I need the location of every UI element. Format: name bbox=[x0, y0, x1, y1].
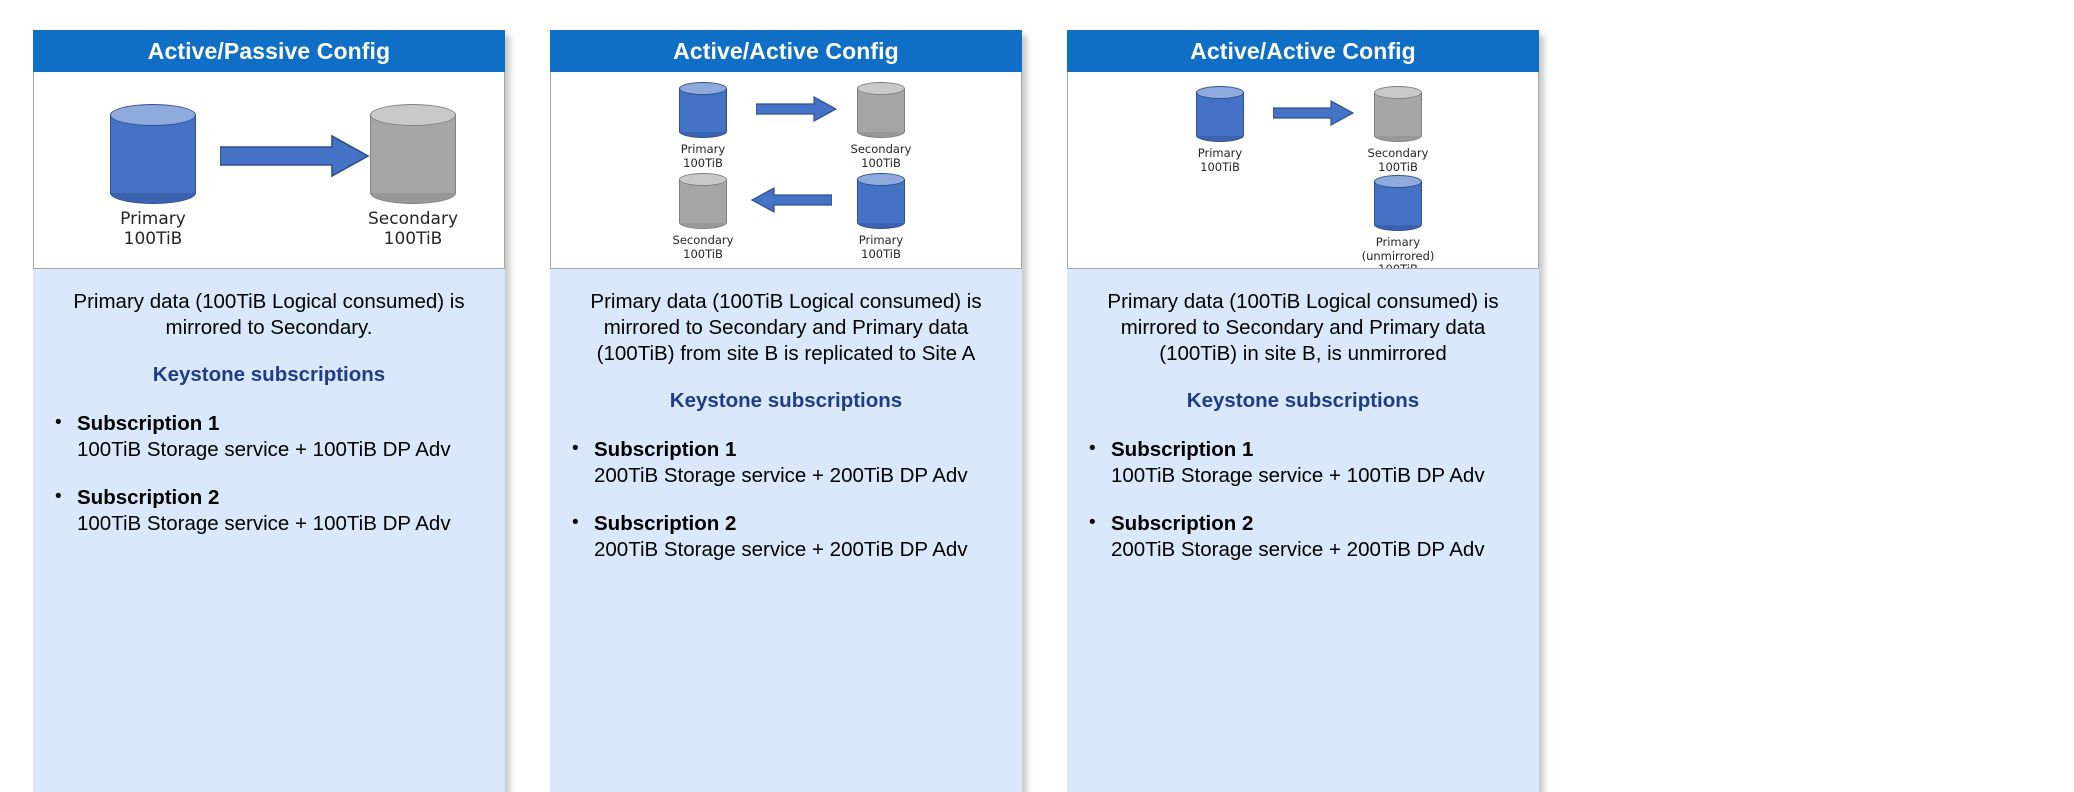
panel-header-active-active-bidirectional: Active/Active Config bbox=[550, 30, 1022, 72]
subscription-name: Subscription 2 bbox=[1111, 511, 1525, 536]
subscription-name: Subscription 1 bbox=[1111, 437, 1525, 462]
subscription-name: Subscription 1 bbox=[594, 437, 1008, 462]
list-item: • Subscription 1 200TiB Storage service … bbox=[564, 437, 1008, 489]
panel-header-active-passive: Active/Passive Config bbox=[33, 30, 505, 72]
subscriptions-list: • Subscription 1 100TiB Storage service … bbox=[1081, 437, 1525, 563]
cylinder-capacity: 100TiB bbox=[861, 247, 901, 261]
subscription-detail: 200TiB Storage service + 200TiB DP Adv bbox=[594, 463, 1008, 489]
bullet-icon: • bbox=[1089, 437, 1111, 461]
arrow-left-icon bbox=[750, 187, 832, 213]
cylinder-role: Secondary bbox=[673, 233, 734, 247]
cylinder-label-primary-site-a: Primary100TiB bbox=[1172, 147, 1268, 174]
arrow-right-icon bbox=[756, 96, 838, 122]
cylinder-node-secondary-site-b: Secondary100TiB bbox=[1350, 86, 1446, 174]
summary-text: Primary data (100TiB Logical consumed) i… bbox=[1081, 289, 1525, 367]
panel-active-active-bidirectional: Active/Active Config Primary100TiB bbox=[550, 30, 1022, 792]
cylinder-role: Primary bbox=[1198, 146, 1242, 160]
cylinder-role: Primary bbox=[681, 142, 725, 156]
list-item: • Subscription 2 200TiB Storage service … bbox=[564, 511, 1008, 563]
cylinder-node-primary-unmirrored-site-b: Primary (unmirrored)100TiB bbox=[1350, 175, 1446, 269]
summary-text: Primary data (100TiB Logical consumed) i… bbox=[47, 289, 491, 341]
cylinder-label-primary-site-b: Primary100TiB bbox=[833, 234, 929, 261]
database-cylinder-icon bbox=[1196, 86, 1244, 142]
database-cylinder-icon bbox=[1374, 175, 1422, 231]
subscription-detail: 200TiB Storage service + 200TiB DP Adv bbox=[1111, 537, 1525, 563]
cylinder-capacity: 100TiB bbox=[683, 247, 723, 261]
cylinder-role: Secondary bbox=[368, 209, 458, 229]
cylinder-label-primary-unmirrored: Primary (unmirrored)100TiB bbox=[1350, 236, 1446, 269]
diagram-active-passive: Primary100TiB Secondary100TiB bbox=[33, 72, 505, 269]
subscriptions-list: • Subscription 1 100TiB Storage service … bbox=[47, 411, 491, 537]
list-item: • Subscription 1 100TiB Storage service … bbox=[1081, 437, 1525, 489]
bullet-icon: • bbox=[55, 485, 77, 509]
summary-text: Primary data (100TiB Logical consumed) i… bbox=[564, 289, 1008, 367]
subscriptions-title: Keystone subscriptions bbox=[1081, 389, 1525, 413]
arrow-right-icon bbox=[220, 134, 370, 178]
cylinder-label-primary-site-a: Primary100TiB bbox=[655, 143, 751, 170]
cylinder-node-primary-site-b: Primary100TiB bbox=[833, 173, 929, 261]
cylinder-role: Primary bbox=[859, 233, 903, 247]
database-cylinder-icon bbox=[110, 104, 196, 204]
cylinder-capacity: 100TiB bbox=[1378, 160, 1418, 174]
subscription-name: Subscription 1 bbox=[77, 411, 491, 436]
bullet-icon: • bbox=[55, 411, 77, 435]
list-item: • Subscription 1 100TiB Storage service … bbox=[47, 411, 491, 463]
subscription-name: Subscription 2 bbox=[594, 511, 1008, 536]
bullet-icon: • bbox=[572, 511, 594, 535]
cylinder-node-secondary: Secondary100TiB bbox=[352, 104, 474, 249]
body-active-passive: Primary data (100TiB Logical consumed) i… bbox=[33, 269, 505, 792]
list-item: • Subscription 2 200TiB Storage service … bbox=[1081, 511, 1525, 563]
body-active-active-unmirrored: Primary data (100TiB Logical consumed) i… bbox=[1067, 269, 1539, 792]
cylinder-role: Secondary bbox=[851, 142, 912, 156]
subscriptions-list: • Subscription 1 200TiB Storage service … bbox=[564, 437, 1008, 563]
panel-active-active-unmirrored: Active/Active Config Primary100TiB bbox=[1067, 30, 1539, 792]
database-cylinder-icon bbox=[857, 173, 905, 229]
cylinder-label-secondary-site-b: Secondary100TiB bbox=[1350, 147, 1446, 174]
cylinder-capacity: 100TiB bbox=[1200, 160, 1240, 174]
database-cylinder-icon bbox=[679, 173, 727, 229]
cylinder-label-secondary-site-b: Secondary100TiB bbox=[833, 143, 929, 170]
cylinder-node-secondary-site-b: Secondary100TiB bbox=[833, 82, 929, 170]
diagram-active-active-bidirectional: Primary100TiB Secondary100TiB bbox=[550, 72, 1022, 269]
subscription-name: Subscription 2 bbox=[77, 485, 491, 510]
cylinder-role: Secondary bbox=[1368, 146, 1429, 160]
panel-active-passive: Active/Passive Config Primary100TiB bbox=[33, 30, 505, 792]
database-cylinder-icon bbox=[679, 82, 727, 138]
database-cylinder-icon bbox=[1374, 86, 1422, 142]
list-item: • Subscription 2 100TiB Storage service … bbox=[47, 485, 491, 537]
bullet-icon: • bbox=[1089, 511, 1111, 535]
cylinder-capacity: 100TiB bbox=[1378, 262, 1418, 269]
diagram-active-active-unmirrored: Primary100TiB Secondary100TiB bbox=[1067, 72, 1539, 269]
cylinder-role: Primary bbox=[120, 209, 186, 229]
subscription-detail: 100TiB Storage service + 100TiB DP Adv bbox=[77, 437, 491, 463]
body-active-active-bidirectional: Primary data (100TiB Logical consumed) i… bbox=[550, 269, 1022, 792]
config-comparison-board: Active/Passive Config Primary100TiB bbox=[0, 0, 2074, 792]
arrow-right-icon bbox=[1273, 100, 1355, 126]
cylinder-node-primary: Primary100TiB bbox=[92, 104, 214, 249]
cylinder-capacity: 100TiB bbox=[124, 229, 183, 249]
cylinder-node-primary-site-a: Primary100TiB bbox=[1172, 86, 1268, 174]
subscriptions-title: Keystone subscriptions bbox=[564, 389, 1008, 413]
cylinder-capacity: 100TiB bbox=[384, 229, 443, 249]
cylinder-label-secondary-site-a: Secondary100TiB bbox=[655, 234, 751, 261]
subscription-detail: 100TiB Storage service + 100TiB DP Adv bbox=[1111, 463, 1525, 489]
subscriptions-title: Keystone subscriptions bbox=[47, 363, 491, 387]
panel-header-active-active-unmirrored: Active/Active Config bbox=[1067, 30, 1539, 72]
database-cylinder-icon bbox=[370, 104, 456, 204]
cylinder-node-secondary-site-a: Secondary100TiB bbox=[655, 173, 751, 261]
subscription-detail: 100TiB Storage service + 100TiB DP Adv bbox=[77, 511, 491, 537]
cylinder-capacity: 100TiB bbox=[861, 156, 901, 170]
cylinder-label-secondary: Secondary100TiB bbox=[352, 209, 474, 249]
cylinder-capacity: 100TiB bbox=[683, 156, 723, 170]
bullet-icon: • bbox=[572, 437, 594, 461]
cylinder-node-primary-site-a: Primary100TiB bbox=[655, 82, 751, 170]
cylinder-role: Primary (unmirrored) bbox=[1362, 235, 1435, 263]
subscription-detail: 200TiB Storage service + 200TiB DP Adv bbox=[594, 537, 1008, 563]
cylinder-label-primary: Primary100TiB bbox=[92, 209, 214, 249]
database-cylinder-icon bbox=[857, 82, 905, 138]
